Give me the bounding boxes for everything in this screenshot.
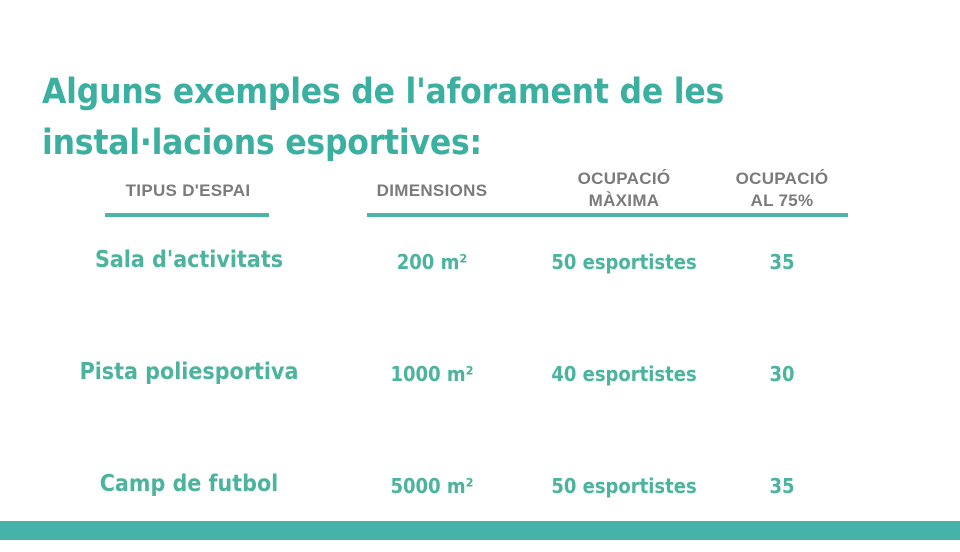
table-row: Sala d'activitats 200 m² 50 esportistes …	[0, 216, 960, 328]
cell-dimensions: 200 m²	[352, 248, 512, 276]
cell-tipus: Pista poliesportiva	[60, 358, 318, 386]
table-body: Sala d'activitats 200 m² 50 esportistes …	[0, 216, 960, 552]
cell-ocupacio-75: 35	[704, 472, 860, 500]
column-header-ocupacio-al-75: Ocupació al 75%	[704, 168, 860, 212]
cell-ocupacio-maxima: 50 esportistes	[538, 472, 710, 500]
slide-canvas: Alguns exemples de l'aforament de les in…	[0, 0, 960, 540]
bottom-accent-bar	[0, 521, 960, 540]
table-header-row: Tipus d'espai Dimensions Ocupació màxima…	[0, 160, 960, 216]
page-title: Alguns exemples de l'aforament de les in…	[42, 67, 842, 169]
cell-tipus: Camp de futbol	[60, 470, 318, 498]
table-row: Pista poliesportiva 1000 m² 40 esportist…	[0, 328, 960, 440]
cell-ocupacio-maxima: 50 esportistes	[538, 248, 710, 276]
cell-dimensions: 1000 m²	[352, 360, 512, 388]
column-header-dimensions: Dimensions	[352, 180, 512, 202]
capacity-table: Tipus d'espai Dimensions Ocupació màxima…	[0, 160, 960, 552]
column-header-tipus-despai: Tipus d'espai	[86, 180, 290, 202]
cell-ocupacio-75: 30	[704, 360, 860, 388]
cell-dimensions: 5000 m²	[352, 472, 512, 500]
cell-tipus: Sala d'activitats	[60, 246, 318, 274]
cell-ocupacio-maxima: 40 esportistes	[538, 360, 710, 388]
cell-ocupacio-75: 35	[704, 248, 860, 276]
column-header-ocupacio-maxima: Ocupació màxima	[538, 168, 710, 212]
